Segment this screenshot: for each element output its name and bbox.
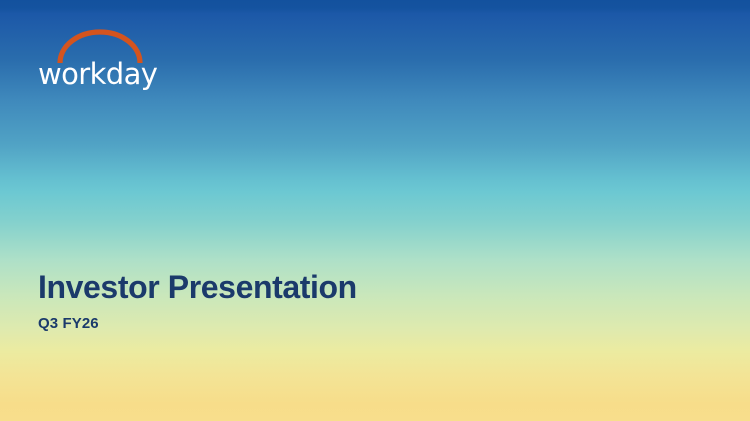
page-title: Investor Presentation: [38, 268, 558, 306]
title-slide: workday Investor Presentation Q3 FY26: [0, 0, 750, 421]
workday-wordmark: workday: [38, 57, 157, 91]
title-block: Investor Presentation Q3 FY26: [38, 268, 558, 333]
workday-logo: workday: [38, 29, 170, 91]
page-subtitle: Q3 FY26: [38, 315, 558, 333]
